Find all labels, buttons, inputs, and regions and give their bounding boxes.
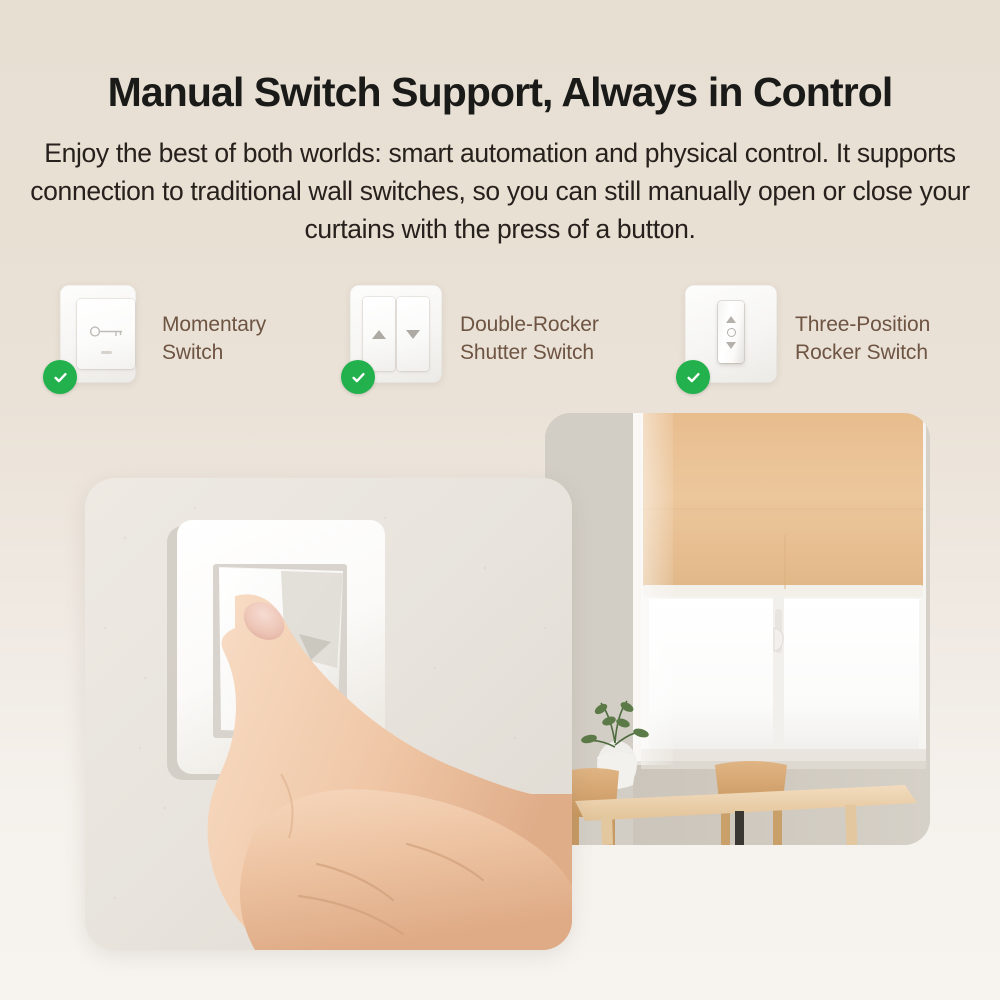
key-icon <box>89 325 125 338</box>
double-rocker-switch-image <box>350 285 442 388</box>
room-window-roller-blind-photo <box>545 413 930 845</box>
page-title: Manual Switch Support, Always in Control <box>0 70 1000 114</box>
triangle-down-icon <box>726 342 736 349</box>
marketing-page: Manual Switch Support, Always in Control… <box>0 0 1000 1000</box>
feature-three-position-rocker-switch: Three-Position Rocker Switch <box>685 285 930 405</box>
supported-check-badge <box>43 360 77 394</box>
momentary-switch-image <box>52 285 144 388</box>
triangle-up-icon <box>726 316 736 323</box>
check-icon <box>685 369 702 386</box>
three-position-switch-image <box>685 285 777 388</box>
feature-label: Three-Position Rocker Switch <box>795 285 930 366</box>
page-description: Enjoy the best of both worlds: smart aut… <box>20 135 980 249</box>
three-position-icon <box>718 301 744 363</box>
indicator-dash-icon <box>101 351 112 354</box>
hand-pressing-wall-switch-photo <box>85 478 572 950</box>
triangle-down-icon <box>406 330 420 339</box>
supported-check-badge <box>341 360 375 394</box>
check-icon <box>52 369 69 386</box>
feature-label: Double-Rocker Shutter Switch <box>460 285 599 366</box>
supported-check-badge <box>676 360 710 394</box>
feature-double-rocker-shutter-switch: Double-Rocker Shutter Switch <box>350 285 599 405</box>
feature-momentary-switch: Momentary Switch <box>52 285 266 405</box>
momentary-button <box>77 299 135 369</box>
feature-label: Momentary Switch <box>162 285 266 366</box>
rocker-up-half <box>363 297 395 371</box>
supported-switch-list: Momentary Switch <box>0 285 1000 405</box>
rocker-down-half <box>397 297 429 371</box>
circle-stop-icon <box>727 328 736 337</box>
triangle-up-icon <box>372 330 386 339</box>
check-icon <box>350 369 367 386</box>
double-rocker-icon <box>363 297 429 371</box>
